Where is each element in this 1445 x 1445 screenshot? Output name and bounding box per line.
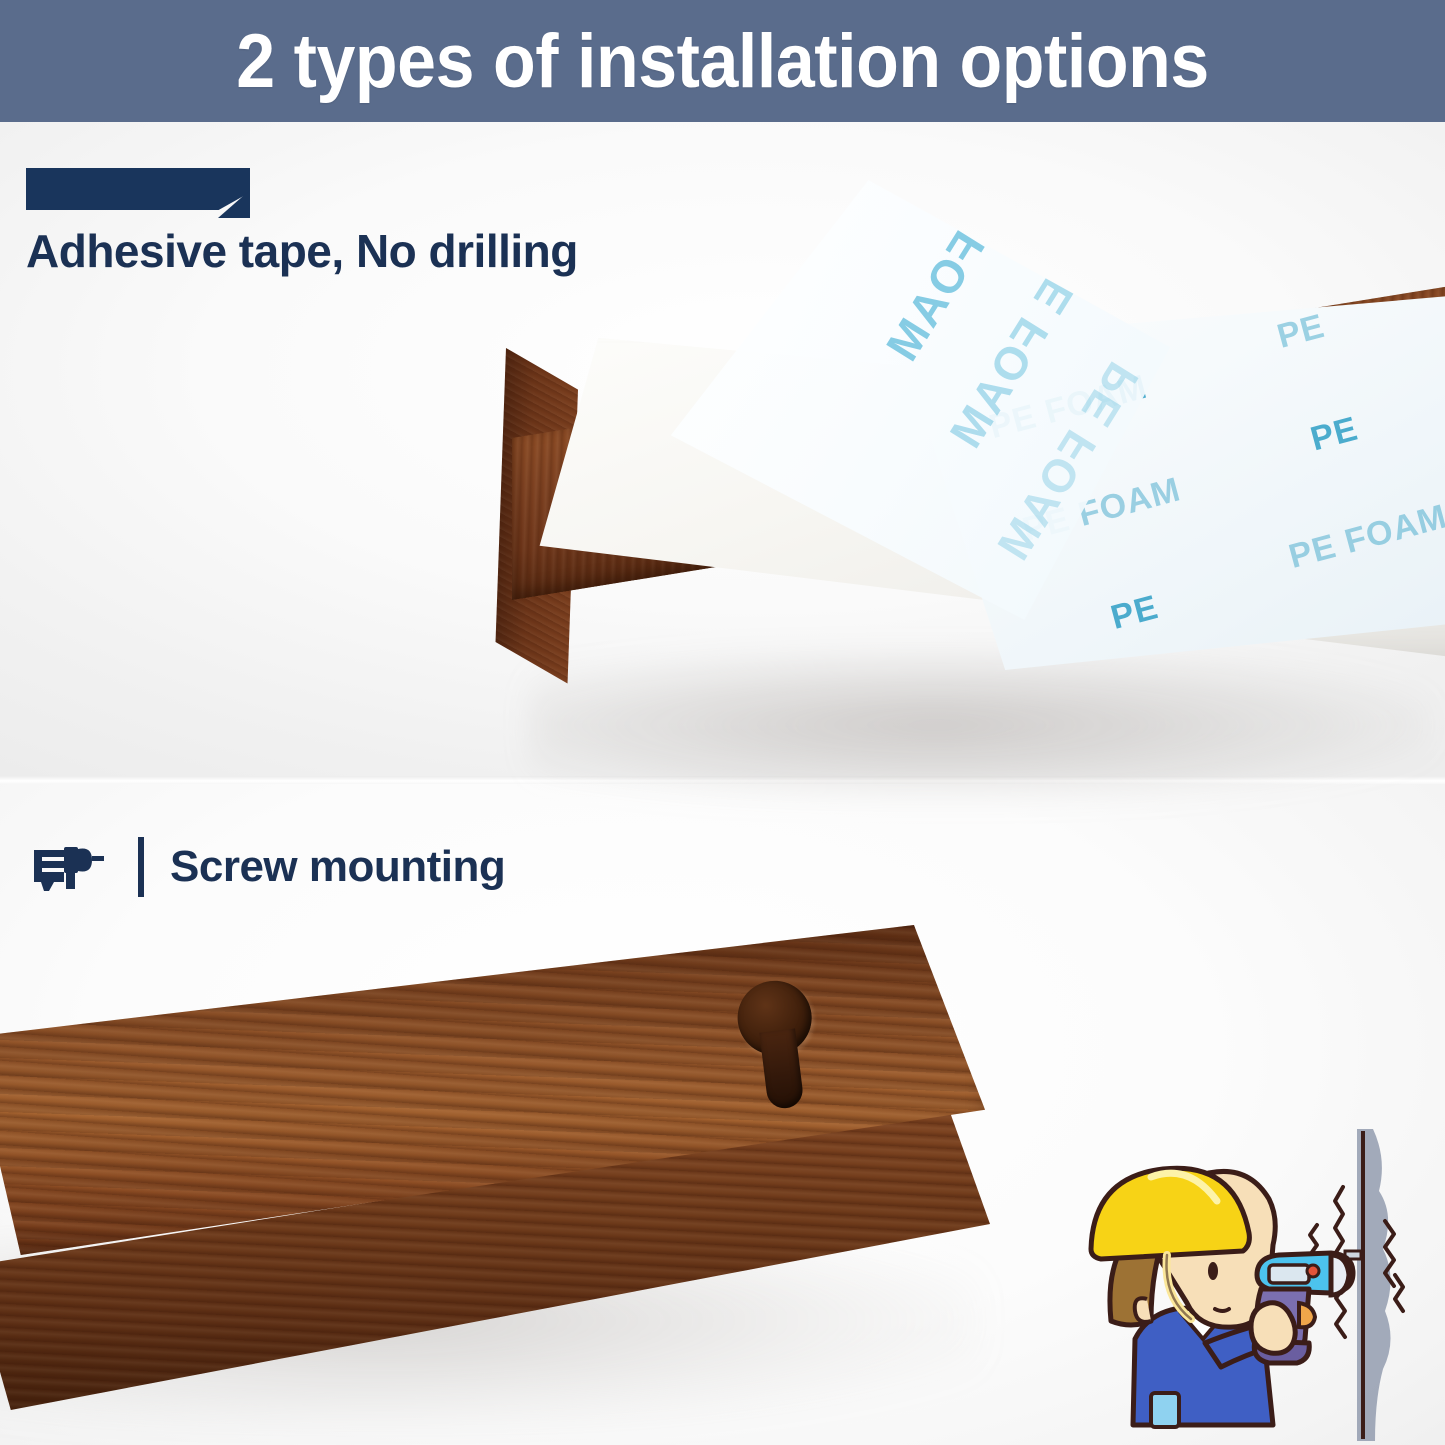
label-screw-text: Screw mounting [170,842,505,892]
shelf-shadow [530,650,1430,800]
foam-word: PE [1306,409,1362,459]
adhesive-tape-icon [26,168,250,210]
product-photo-screw-shelf [0,905,1050,1435]
worker-hand [1251,1303,1295,1354]
label-vertical-divider [138,837,144,897]
drill-icon [30,836,126,898]
wall-graphic [1357,1129,1391,1441]
page-title: 2 types of installation options [236,18,1208,105]
infographic-page: 2 types of installation options PE FOAM … [0,0,1445,1445]
label-adhesive-text: Adhesive tape, No drilling [26,224,578,278]
foam-word: PE [1107,588,1163,638]
header-banner: 2 types of installation options [0,0,1445,122]
foam-word: PE [1273,306,1329,356]
label-block-adhesive: Adhesive tape, No drilling [26,168,578,278]
tape-icon-bar [26,168,250,210]
worker-head [1091,1168,1275,1327]
worker-drilling-wall-illustration [1055,1125,1445,1445]
keyhole-slot [727,975,838,1116]
foam-word: PE FOAM [1284,497,1445,577]
product-photo-adhesive-shelf: PE FOAM PE FOAM PE FOAM PE PE FOAM PE FO… [460,180,1445,780]
label-block-screw: Screw mounting [30,836,505,898]
